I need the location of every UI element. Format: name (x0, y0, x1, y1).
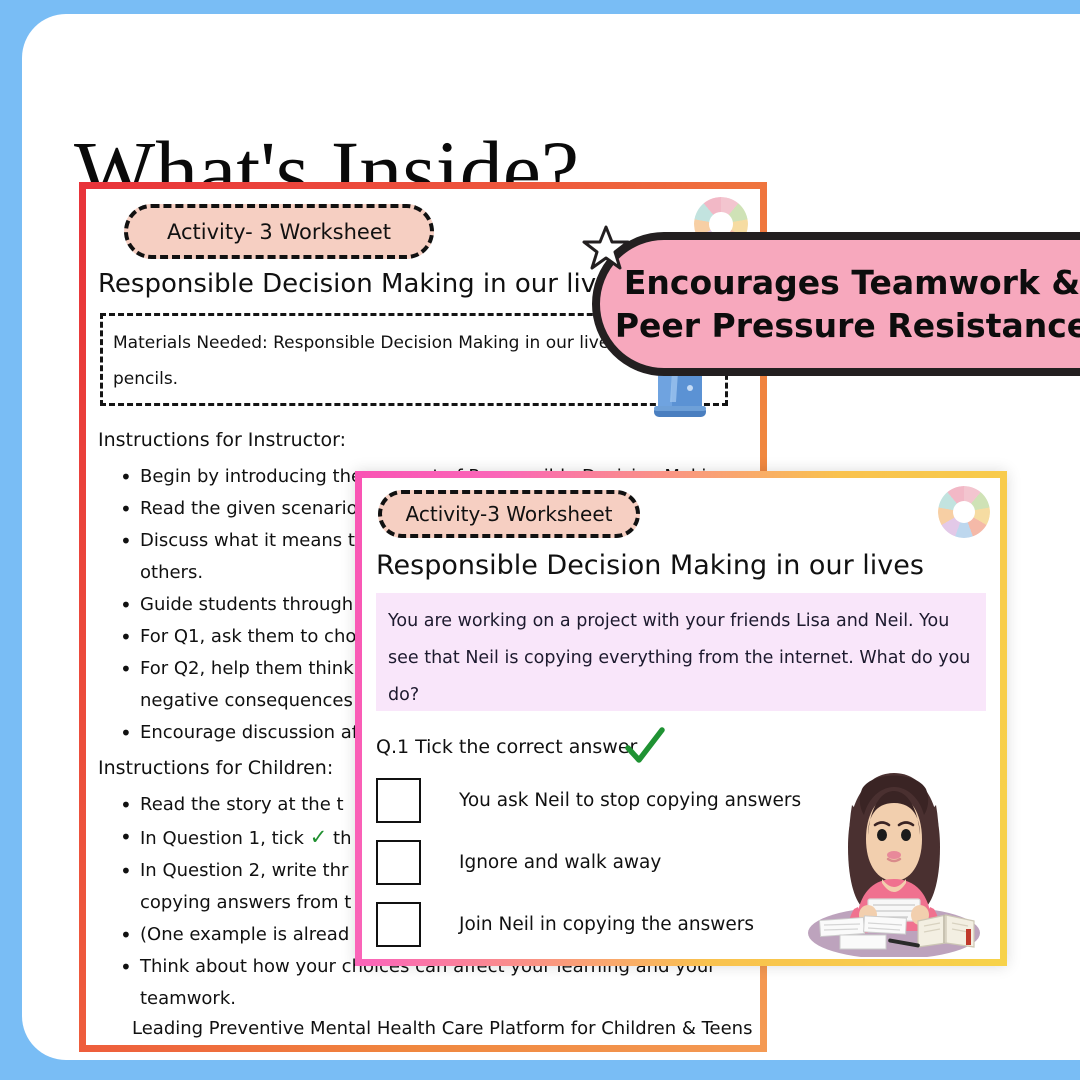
activity-pill-back: Activity- 3 Worksheet (124, 204, 434, 259)
checkbox[interactable] (376, 902, 421, 947)
scenario-box: You are working on a project with your f… (376, 593, 986, 711)
instructor-heading: Instructions for Instructor: (98, 429, 346, 451)
check-icon: ✓ (310, 825, 328, 849)
checkbox[interactable] (376, 778, 421, 823)
checkbox[interactable] (376, 840, 421, 885)
star-icon (582, 224, 630, 272)
list-item-label: In Question 1, tick (140, 828, 304, 849)
materials-line-2: pencils. (113, 361, 715, 397)
worksheet-front[interactable]: Activity-3 Worksheet Responsible Decisio… (355, 471, 1007, 966)
worksheet-title-back: Responsible Decision Making in our lives (98, 269, 626, 299)
list-item: teamwork. (140, 983, 767, 1015)
option-label: You ask Neil to stop copying answers (459, 790, 801, 811)
option-row[interactable]: You ask Neil to stop copying answers (376, 778, 801, 823)
worksheet-title-front: Responsible Decision Making in our lives (376, 550, 924, 581)
white-card: What's Inside? Activity- 3 Worksheet Res… (22, 14, 1080, 1060)
option-row[interactable]: Join Neil in copying the answers (376, 902, 754, 947)
question-1-label: Q.1 Tick the correct answer (376, 736, 637, 758)
option-label: Join Neil in copying the answers (459, 914, 754, 935)
activity-pill-front: Activity-3 Worksheet (378, 490, 640, 538)
poster-canvas: What's Inside? Activity- 3 Worksheet Res… (0, 0, 1080, 1080)
mental-health-wheel-logo-icon (938, 486, 990, 538)
banner-line-1: Encourages Teamwork & (624, 261, 1080, 304)
banner-line-2: Peer Pressure Resistance (615, 304, 1080, 347)
option-label: Ignore and walk away (459, 852, 661, 873)
children-heading: Instructions for Children: (98, 757, 333, 779)
option-row[interactable]: Ignore and walk away (376, 840, 661, 885)
sheet-footer-tagline: Leading Preventive Mental Health Care Pl… (132, 1018, 752, 1039)
feature-banner: Encourages Teamwork & Peer Pressure Resi… (592, 232, 1080, 376)
girl-studying-illustration (796, 743, 992, 957)
green-check-icon (624, 726, 666, 768)
